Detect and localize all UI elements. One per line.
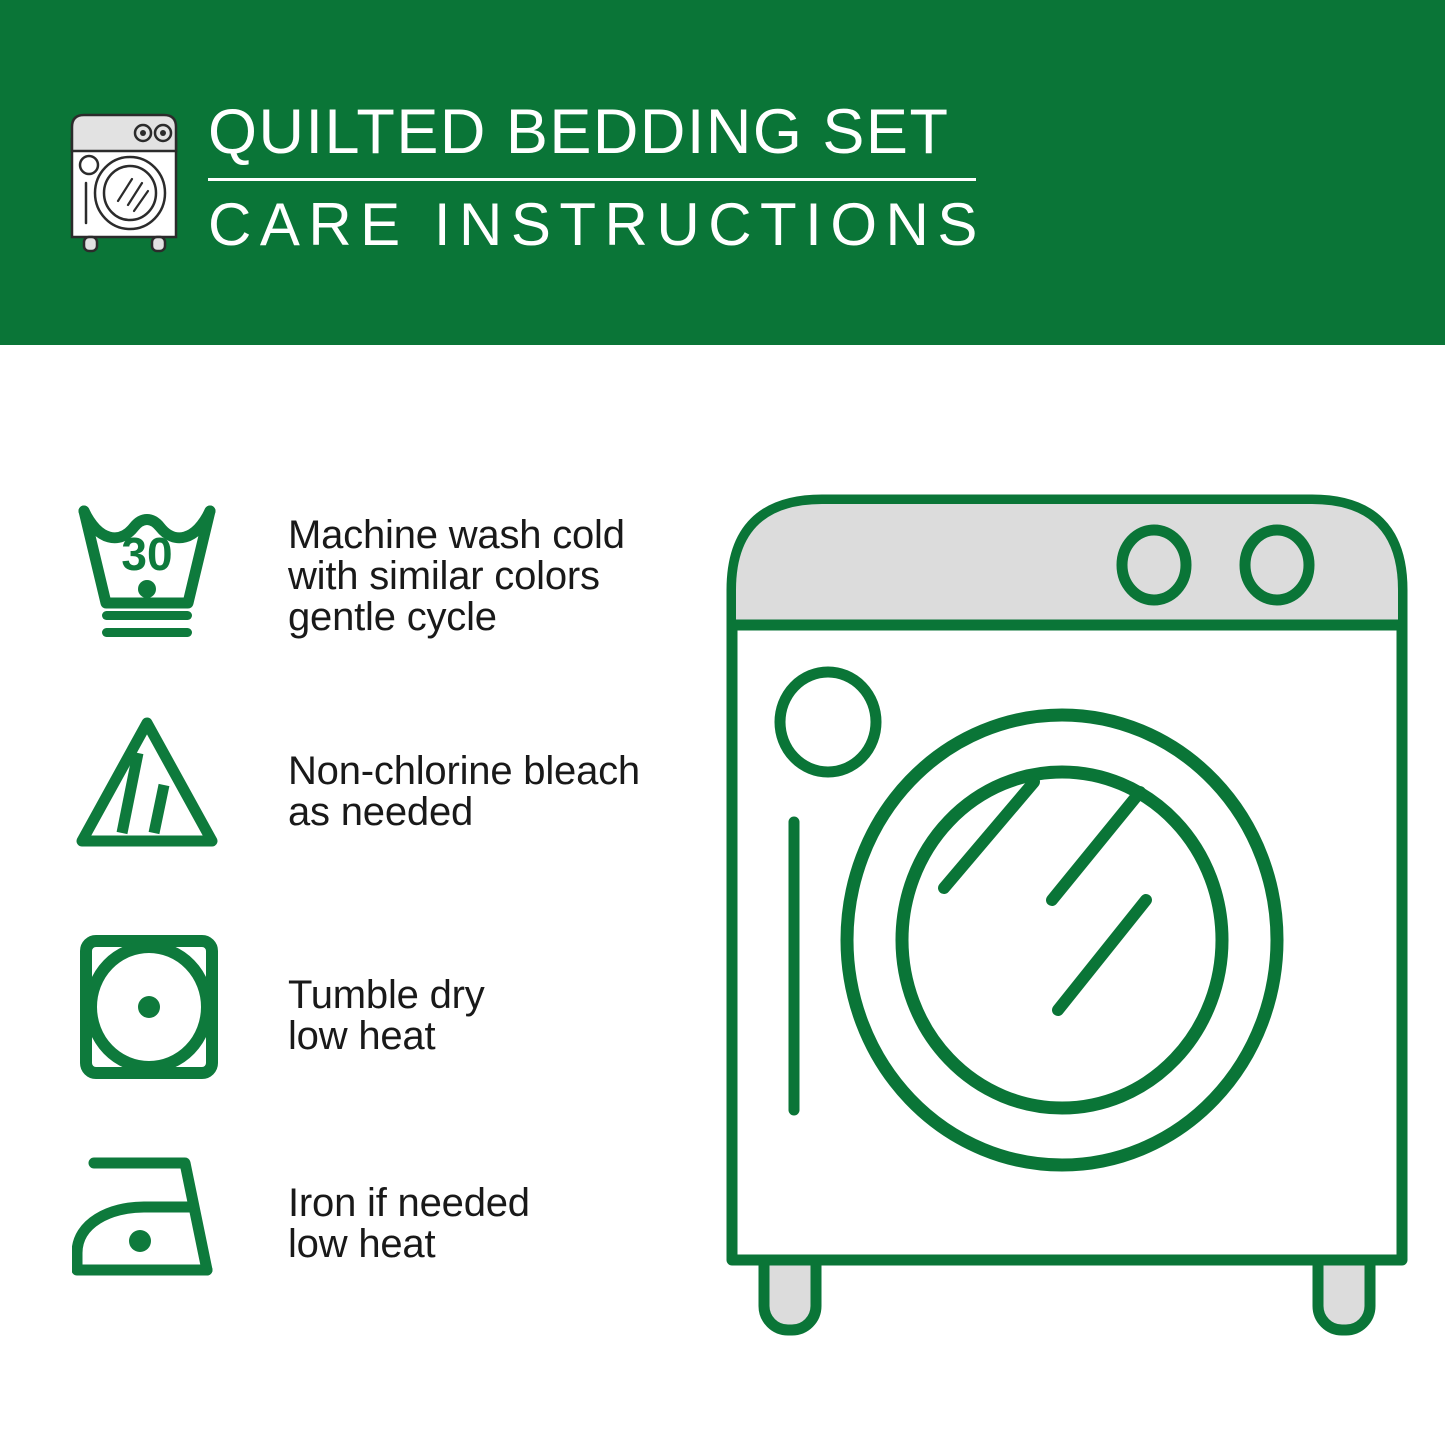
care-label-bleach: Non-chlorine bleach as needed: [288, 751, 640, 833]
page-title: QUILTED BEDDING SET: [208, 96, 998, 168]
header-banner: QUILTED BEDDING SET CARE INSTRUCTIONS: [0, 0, 1445, 345]
washing-machine-icon: [62, 105, 194, 255]
iron-icon: [72, 1145, 232, 1295]
care-instructions-list: 30 Machine wash cold with similar colors…: [0, 345, 700, 1445]
title-divider: [208, 178, 976, 181]
bleach-triangle-icon: [72, 713, 232, 863]
page-subtitle: CARE INSTRUCTIONS: [208, 191, 998, 259]
wash-tub-30-icon: 30: [72, 495, 232, 645]
header-text-block: QUILTED BEDDING SET CARE INSTRUCTIONS: [208, 96, 998, 259]
care-label-iron: Iron if needed low heat: [288, 1183, 530, 1265]
care-instructions-infographic: QUILTED BEDDING SET CARE INSTRUCTIONS 30: [0, 0, 1445, 1445]
svg-text:30: 30: [121, 528, 172, 580]
washing-machine-illustration: [722, 470, 1412, 1360]
care-label-machine-wash: Machine wash cold with similar colors ge…: [288, 515, 625, 638]
care-label-tumble-dry: Tumble dry low heat: [288, 975, 485, 1057]
tumble-dry-icon: [72, 933, 232, 1083]
